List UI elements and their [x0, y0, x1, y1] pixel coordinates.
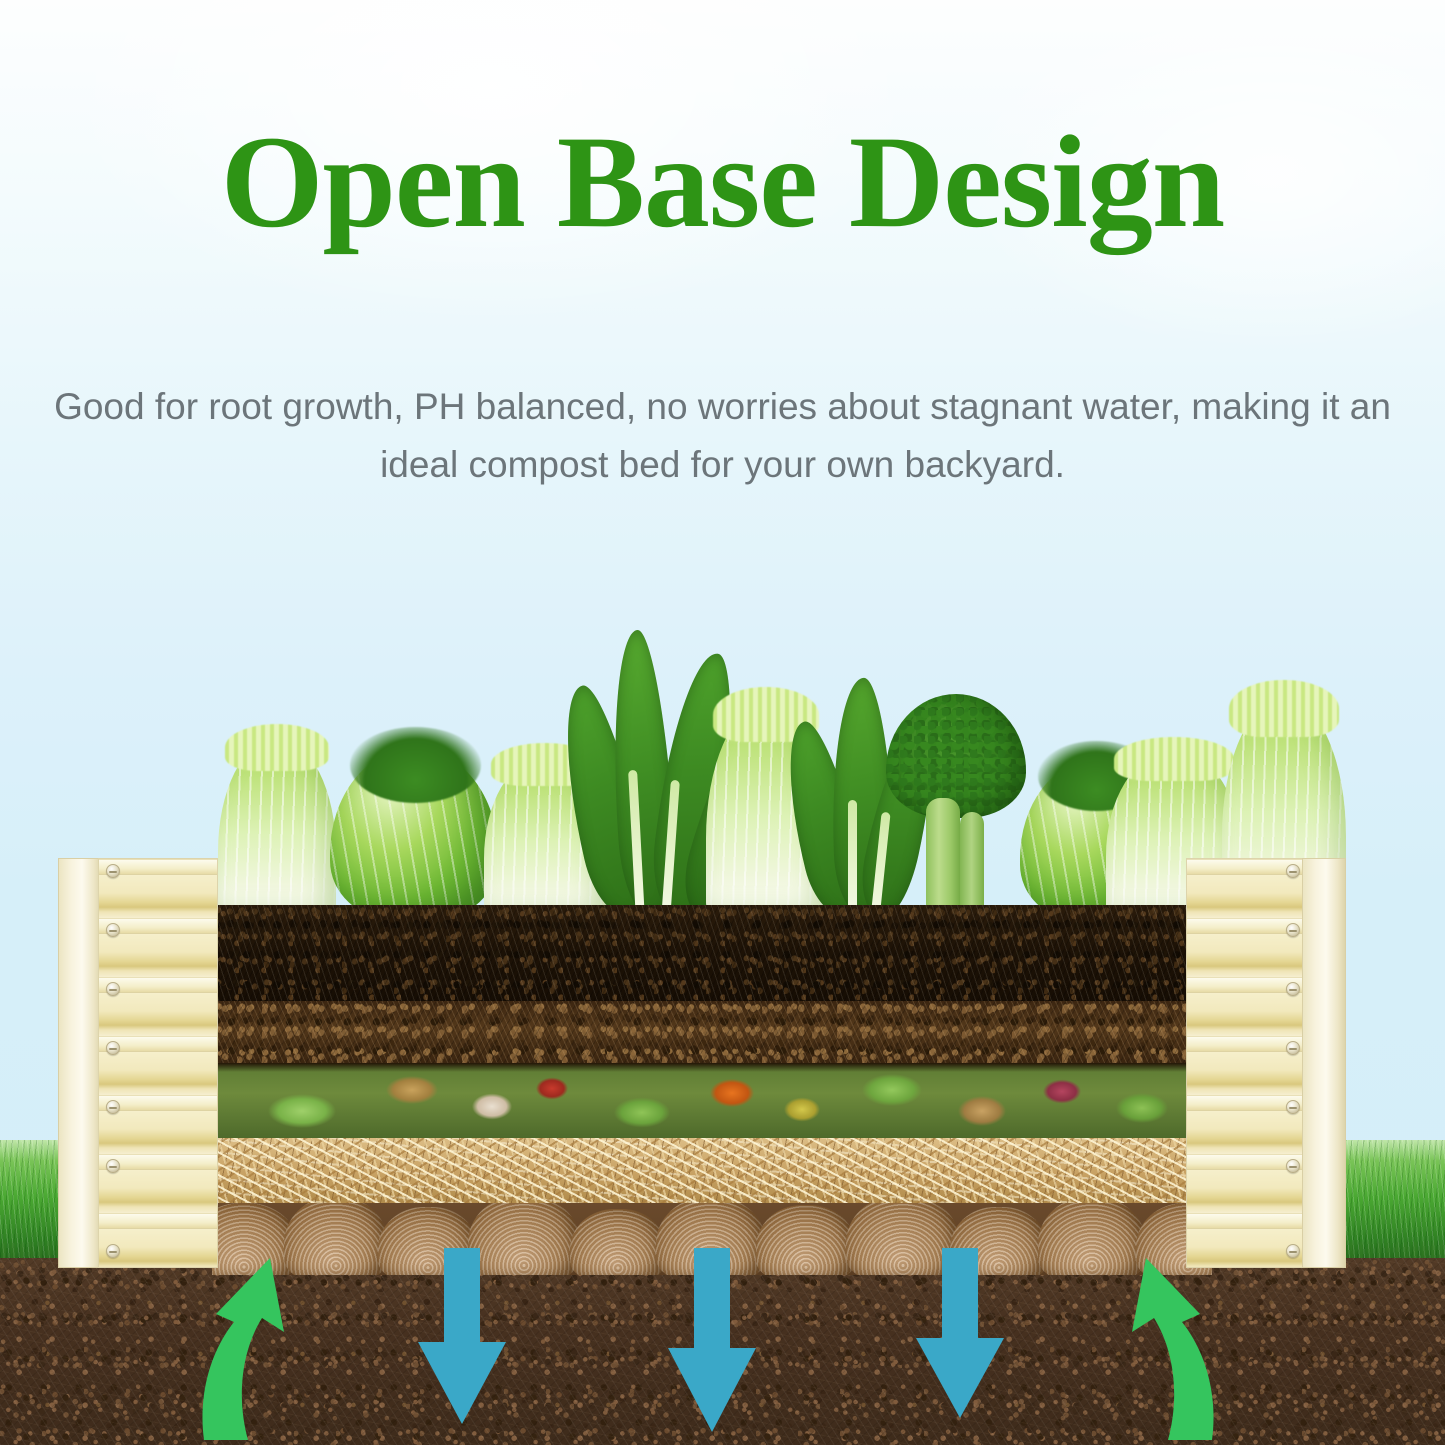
- screw: [1286, 1159, 1300, 1173]
- corner-post-left: [58, 858, 102, 1268]
- screw: [106, 982, 120, 996]
- bed-layer-stack: [212, 905, 1212, 1205]
- airflow-arrow-up-right: [1100, 1256, 1220, 1442]
- screw: [1286, 1041, 1300, 1055]
- airflow-arrow-down-1: [414, 1248, 510, 1426]
- panel-slats-right: [1186, 858, 1306, 1268]
- layer-mulch: [212, 1001, 1212, 1063]
- napa-cabbage-1: [218, 740, 336, 920]
- layer-kitchen-scraps: [212, 1063, 1212, 1138]
- screw: [1286, 982, 1300, 996]
- panel-slats-left: [98, 858, 218, 1268]
- cabbage-1: [330, 748, 498, 920]
- screw: [1286, 1100, 1300, 1114]
- screw: [106, 1159, 120, 1173]
- screw: [106, 864, 120, 878]
- promo-image-canvas: Open Base Design Good for root growth, P…: [0, 0, 1445, 1445]
- screw: [106, 923, 120, 937]
- broccoli-1: [880, 694, 1030, 920]
- page-subtitle: Good for root growth, PH balanced, no wo…: [50, 378, 1395, 494]
- airflow-arrow-group: [0, 1250, 1445, 1445]
- screw: [106, 1100, 120, 1114]
- screw: [1286, 923, 1300, 937]
- screw: [1286, 864, 1300, 878]
- airflow-arrow-down-3: [912, 1248, 1008, 1420]
- bed-panel-left: [58, 858, 218, 1268]
- airflow-arrow-up-left: [196, 1256, 316, 1442]
- page-title: Open Base Design: [0, 118, 1445, 246]
- bed-panel-right: [1186, 858, 1346, 1268]
- airflow-arrow-down-2: [664, 1248, 760, 1434]
- corner-post-right: [1302, 858, 1346, 1268]
- screw: [106, 1041, 120, 1055]
- layer-topsoil: [212, 905, 1212, 1001]
